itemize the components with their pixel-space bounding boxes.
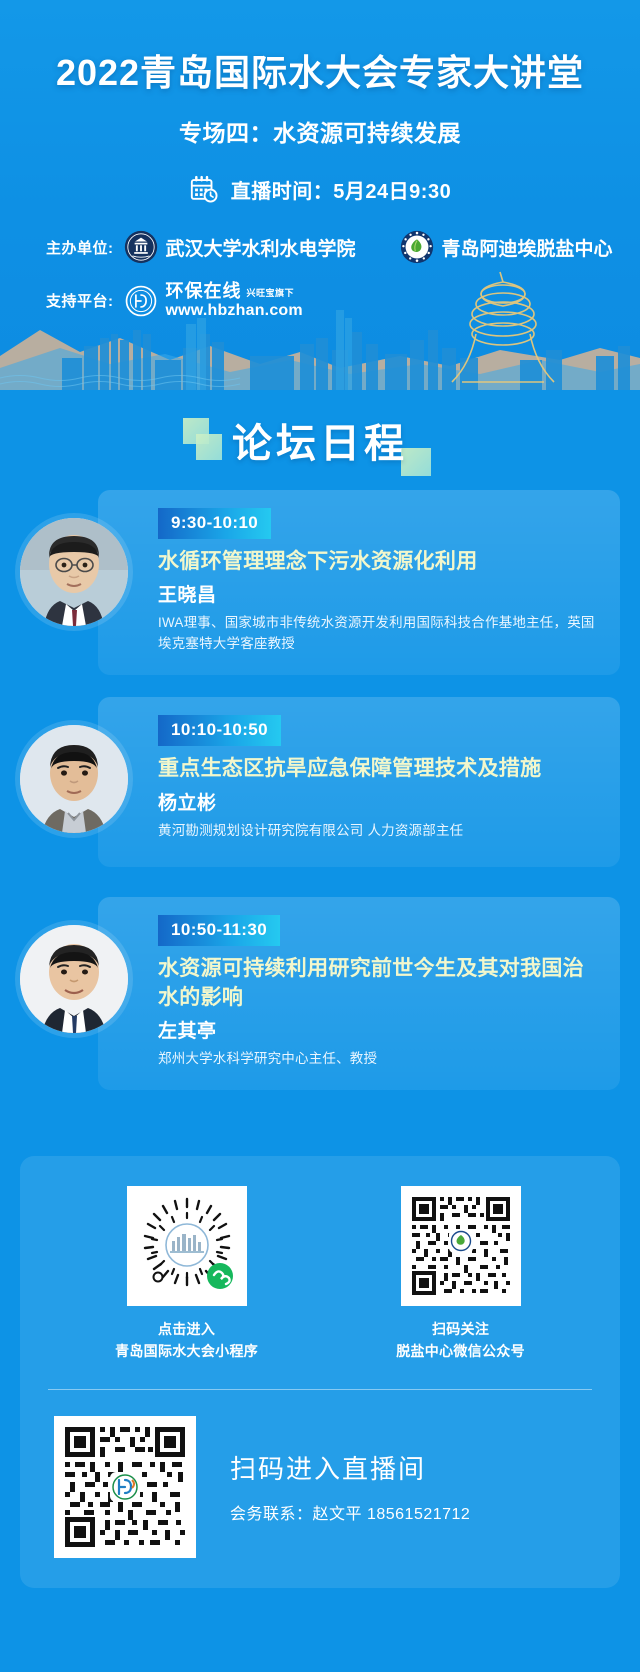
wechat-official-account-qr-code[interactable]: [401, 1186, 521, 1306]
caption-line-2: 脱盐中心微信公众号: [396, 1343, 525, 1359]
session-speaker-name: 杨立彬: [158, 788, 600, 815]
speaker-portrait-yang-libin: [20, 725, 128, 833]
organizers-block: 主办单位: 武汉大学水利水电学院: [0, 230, 640, 320]
platform-name: 环保在线: [166, 282, 242, 301]
qr-section-divider: [48, 1389, 592, 1390]
decor-square-icon: [196, 434, 222, 460]
organizer-name: 青岛阿迪埃脱盐中心: [442, 234, 613, 261]
live-stream-row: 扫码进入直播间 会务联系：赵文平 18561521712: [46, 1416, 594, 1558]
organizer-label: 主办单位:: [46, 237, 114, 258]
agenda-session-row[interactable]: 10:10-10:50 重点生态区抗旱应急保障管理技术及措施 杨立彬 黄河勘测规…: [20, 697, 620, 875]
agenda-session-card: 10:10-10:50 重点生态区抗旱应急保障管理技术及措施 杨立彬 黄河勘测规…: [98, 697, 620, 867]
platform-row: 支持平台: 环保在线 兴旺宝旗下 www.hbzhan.com: [46, 282, 640, 320]
agenda-session-row[interactable]: 10:50-11:30 水资源可持续利用研究前世今生及其对我国治水的影响 左其亭…: [20, 897, 620, 1090]
session-speaker-name: 左其亭: [158, 1016, 600, 1043]
agenda-session-card: 9:30-10:10 水循环管理理念下污水资源化利用 王晓昌 IWA理事、国家城…: [98, 490, 620, 675]
hero-banner: 2022青岛国际水大会专家大讲堂 专场四：水资源可持续发展: [0, 0, 640, 390]
live-time-row: 直播时间：5月24日9:30: [0, 174, 640, 204]
session-title: 水循环管理理念下污水资源化利用: [158, 548, 600, 576]
platform-hbzhan[interactable]: 环保在线 兴旺宝旗下 www.hbzhan.com: [124, 282, 303, 320]
caption-line-1: 点击进入: [158, 1321, 215, 1337]
session-track-subtitle: 专场四：水资源可持续发展: [0, 114, 640, 148]
official-account-qr-caption: 扫码关注 脱盐中心微信公众号: [396, 1318, 525, 1363]
session-speaker-name: 王晓昌: [158, 580, 600, 607]
session-speaker-bio: IWA理事、国家城市非传统水资源开发利用国际科技合作基地主任，英国埃克塞特大学客…: [158, 613, 600, 655]
session-title: 重点生态区抗旱应急保障管理技术及措施: [158, 755, 600, 783]
qingdao-adie-desalination-leaf-icon: [400, 230, 434, 264]
page-title: 2022青岛国际水大会专家大讲堂: [0, 0, 640, 96]
miniprogram-qr-caption: 点击进入 青岛国际水大会小程序: [115, 1318, 258, 1363]
wuhan-university-crest-icon: [124, 230, 158, 264]
live-stream-heading: 扫码进入直播间: [230, 1449, 470, 1486]
organizer-wuhan-university: 武汉大学水利水电学院: [124, 230, 356, 264]
session-time-badge: 10:10-10:50: [158, 715, 281, 746]
agenda-session-card: 10:50-11:30 水资源可持续利用研究前世今生及其对我国治水的影响 左其亭…: [98, 897, 620, 1090]
official-account-qr-cell[interactable]: 扫码关注 脱盐中心微信公众号: [396, 1186, 525, 1363]
session-time-badge: 9:30-10:10: [158, 508, 271, 539]
session-time-badge: 10:50-11:30: [158, 915, 280, 946]
hbzhan-circle-icon: [124, 284, 158, 318]
session-speaker-bio: 郑州大学水科学研究中心主任、教授: [158, 1049, 600, 1070]
platform-label: 支持平台:: [46, 290, 114, 311]
agenda-heading-row: 论坛日程: [0, 390, 640, 490]
agenda-heading: 论坛日程: [232, 411, 408, 469]
caption-line-1: 扫码关注: [432, 1321, 489, 1337]
agenda-section: 论坛日程 9:30-10:10: [0, 390, 640, 1130]
qr-top-row: 点击进入 青岛国际水大会小程序: [46, 1186, 594, 1363]
live-stream-contact: 会务联系：赵文平 18561521712: [230, 1500, 470, 1524]
qr-codes-panel: 点击进入 青岛国际水大会小程序: [20, 1156, 620, 1588]
platform-text: 环保在线 兴旺宝旗下 www.hbzhan.com: [166, 282, 303, 320]
calendar-clock-icon: [189, 174, 219, 204]
live-stream-text: 扫码进入直播间 会务联系：赵文平 18561521712: [230, 1449, 470, 1524]
wechat-miniprogram-qr-code[interactable]: [127, 1186, 247, 1306]
organizer-qingdao-adie: 青岛阿迪埃脱盐中心: [400, 230, 613, 264]
organizer-row: 主办单位: 武汉大学水利水电学院: [46, 230, 640, 264]
live-stream-qr-code[interactable]: [54, 1416, 196, 1558]
speaker-portrait-zuo-qiting: [20, 925, 128, 1033]
platform-tagline: 兴旺宝旗下: [247, 289, 295, 300]
platform-url: www.hbzhan.com: [166, 303, 303, 320]
organizer-name: 武汉大学水利水电学院: [166, 234, 356, 261]
speaker-portrait-wang-xiaochang: [20, 518, 128, 626]
session-title: 水资源可持续利用研究前世今生及其对我国治水的影响: [158, 955, 600, 1012]
live-time-text: 直播时间：5月24日9:30: [231, 175, 451, 204]
caption-line-2: 青岛国际水大会小程序: [115, 1343, 258, 1359]
agenda-session-row[interactable]: 9:30-10:10 水循环管理理念下污水资源化利用 王晓昌 IWA理事、国家城…: [20, 490, 620, 675]
session-speaker-bio: 黄河勘测规划设计研究院有限公司 人力资源部主任: [158, 821, 600, 842]
miniprogram-qr-cell[interactable]: 点击进入 青岛国际水大会小程序: [115, 1186, 258, 1363]
